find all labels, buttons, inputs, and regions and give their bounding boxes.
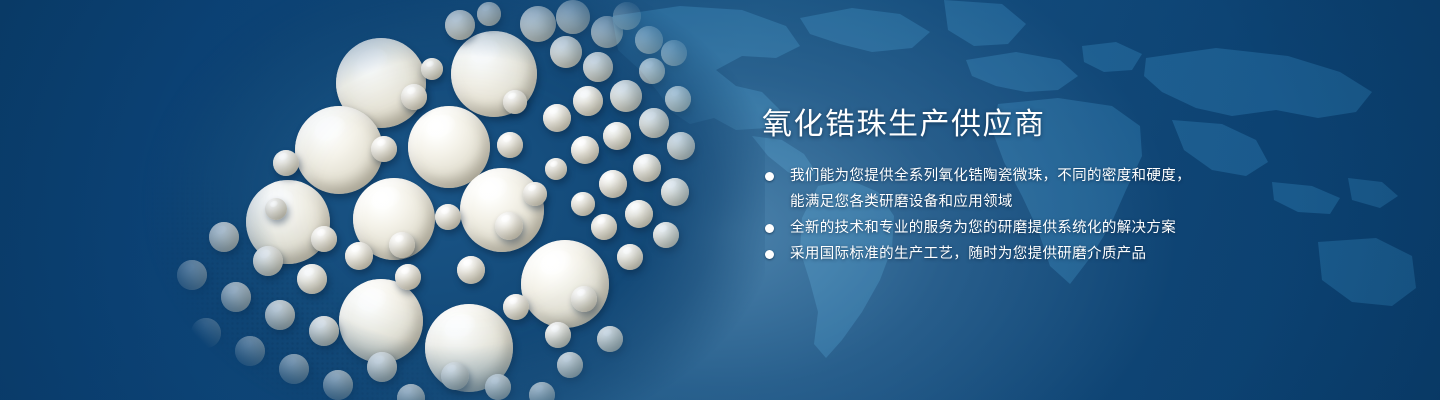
benefit-text: 我们能为您提供全系列氧化锆陶瓷微珠，不同的密度和硬度， xyxy=(790,164,1322,188)
benefit-text-wrap: 能满足您各类研磨设备和应用领域 xyxy=(790,190,1322,214)
benefits-list: 我们能为您提供全系列氧化锆陶瓷微珠，不同的密度和硬度， 能满足您各类研磨设备和应… xyxy=(762,164,1322,266)
list-item-continuation: 能满足您各类研磨设备和应用领域 xyxy=(762,190,1322,214)
list-item: 我们能为您提供全系列氧化锆陶瓷微珠，不同的密度和硬度， xyxy=(762,164,1322,188)
promo-banner: 氧化锆珠生产供应商 我们能为您提供全系列氧化锆陶瓷微珠，不同的密度和硬度， 能满… xyxy=(0,0,1440,400)
list-item: 全新的技术和专业的服务为您的研磨提供系统化的解决方案 xyxy=(762,216,1322,240)
bullet-dot-icon xyxy=(765,224,774,233)
bullet-dot-icon xyxy=(765,250,774,259)
zirconia-beads-photo xyxy=(105,0,765,400)
benefit-text: 全新的技术和专业的服务为您的研磨提供系统化的解决方案 xyxy=(790,216,1322,240)
bead-cluster xyxy=(105,0,765,400)
bullet-dot-icon xyxy=(765,172,774,181)
benefit-text: 采用国际标准的生产工艺，随时为您提供研磨介质产品 xyxy=(790,242,1322,266)
banner-headline: 氧化锆珠生产供应商 xyxy=(762,104,1322,146)
banner-copy: 氧化锆珠生产供应商 我们能为您提供全系列氧化锆陶瓷微珠，不同的密度和硬度， 能满… xyxy=(762,104,1322,268)
list-item: 采用国际标准的生产工艺，随时为您提供研磨介质产品 xyxy=(762,242,1322,266)
